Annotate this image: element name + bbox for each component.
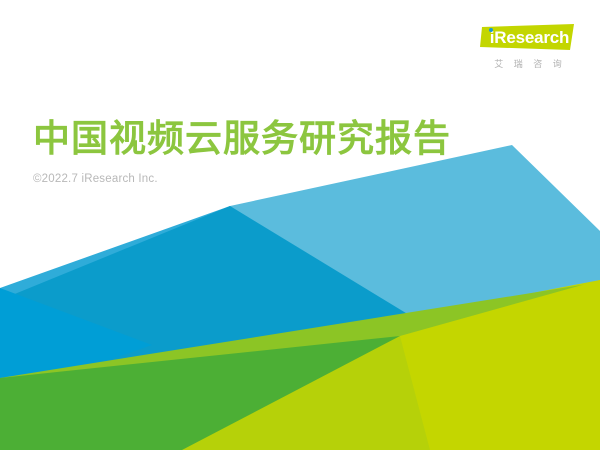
copyright-text: ©2022.7 iResearch Inc. (33, 173, 158, 185)
iresearch-logo[interactable]: iResearch 艾 瑞 咨 询 (474, 24, 582, 70)
logo-i-dot (489, 28, 493, 32)
logo-mark: iResearch (480, 24, 576, 52)
logo-wordmark: iResearch (480, 24, 576, 52)
page-title: 中国视频云服务研究报告 (33, 118, 451, 161)
logo-subtitle: 艾 瑞 咨 询 (474, 57, 582, 70)
report-cover-page: iResearch 艾 瑞 咨 询 中国视频云服务研究报告 ©2022.7 iR… (0, 0, 600, 450)
